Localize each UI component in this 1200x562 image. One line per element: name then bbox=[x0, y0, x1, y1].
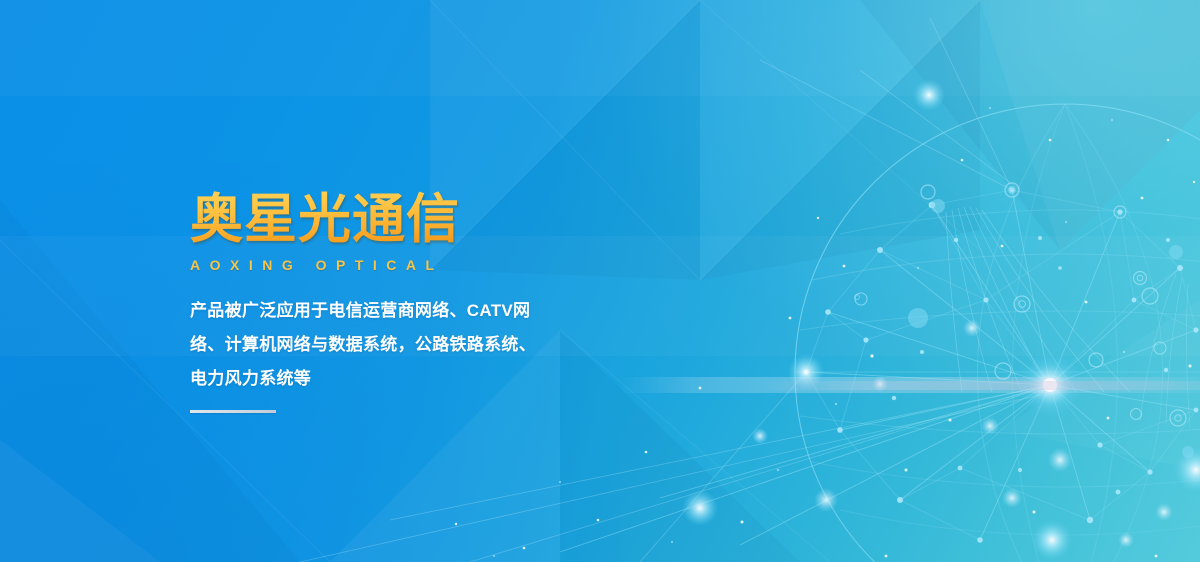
hero-banner: 奥星光通信 AOXING OPTICAL 产品被广泛应用于电信运营商网络、CAT… bbox=[0, 0, 1200, 562]
divider-rule bbox=[190, 410, 276, 413]
brand-subtitle: AOXING OPTICAL bbox=[190, 256, 620, 274]
description-line-2: 络、计算机网络与数据系统，公路铁路系统、 bbox=[190, 328, 602, 362]
brand-title: 奥星光通信 bbox=[190, 190, 620, 250]
description-line-1: 产品被广泛应用于电信运营商网络、CATV网 bbox=[190, 294, 602, 328]
banner-content: 奥星光通信 AOXING OPTICAL 产品被广泛应用于电信运营商网络、CAT… bbox=[190, 190, 620, 413]
description-line-3: 电力风力系统等 bbox=[190, 362, 602, 396]
banner-description: 产品被广泛应用于电信运营商网络、CATV网 络、计算机网络与数据系统，公路铁路系… bbox=[190, 294, 602, 396]
